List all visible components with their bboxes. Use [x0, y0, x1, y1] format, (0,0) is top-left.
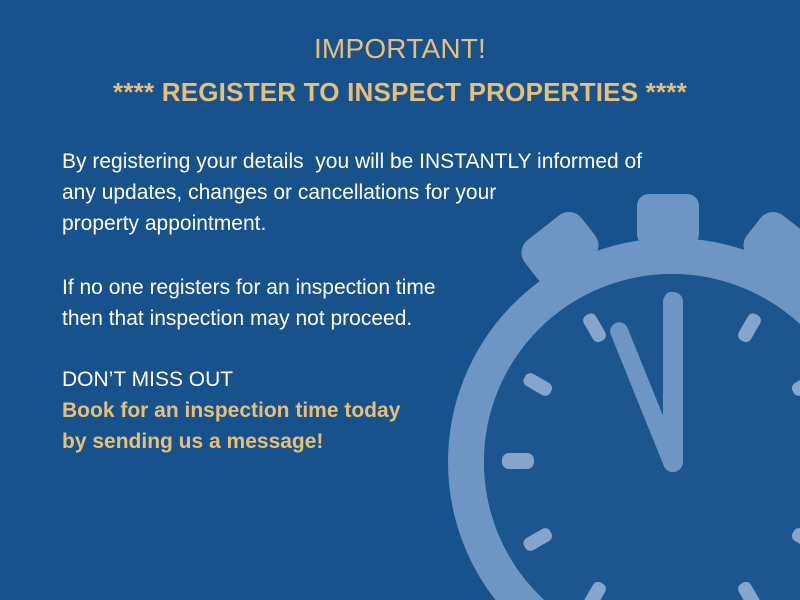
paragraph-warning-line: then that inspection may not proceed. — [62, 303, 722, 334]
heading-group: IMPORTANT! **** REGISTER TO INSPECT PROP… — [0, 30, 800, 112]
cta-headline: DON’T MISS OUT — [62, 364, 722, 395]
page-title: IMPORTANT! — [0, 30, 800, 68]
slide-content: IMPORTANT! **** REGISTER TO INSPECT PROP… — [0, 0, 800, 600]
paragraph-intro-line: property appointment. — [62, 208, 722, 239]
paragraph-intro: By registering your details you will be … — [62, 146, 722, 239]
cta-action-line: by sending us a message! — [62, 426, 722, 457]
paragraph-warning: If no one registers for an inspection ti… — [62, 272, 722, 334]
paragraph-intro-line: any updates, changes or cancellations fo… — [62, 177, 722, 208]
paragraph-intro-line: By registering your details you will be … — [62, 146, 722, 177]
call-to-action-block: DON’T MISS OUT Book for an inspection ti… — [62, 364, 722, 457]
cta-action-line: Book for an inspection time today — [62, 395, 722, 426]
slide-canvas: IMPORTANT! **** REGISTER TO INSPECT PROP… — [0, 0, 800, 600]
paragraph-warning-line: If no one registers for an inspection ti… — [62, 272, 722, 303]
page-subtitle: **** REGISTER TO INSPECT PROPERTIES **** — [0, 72, 800, 112]
